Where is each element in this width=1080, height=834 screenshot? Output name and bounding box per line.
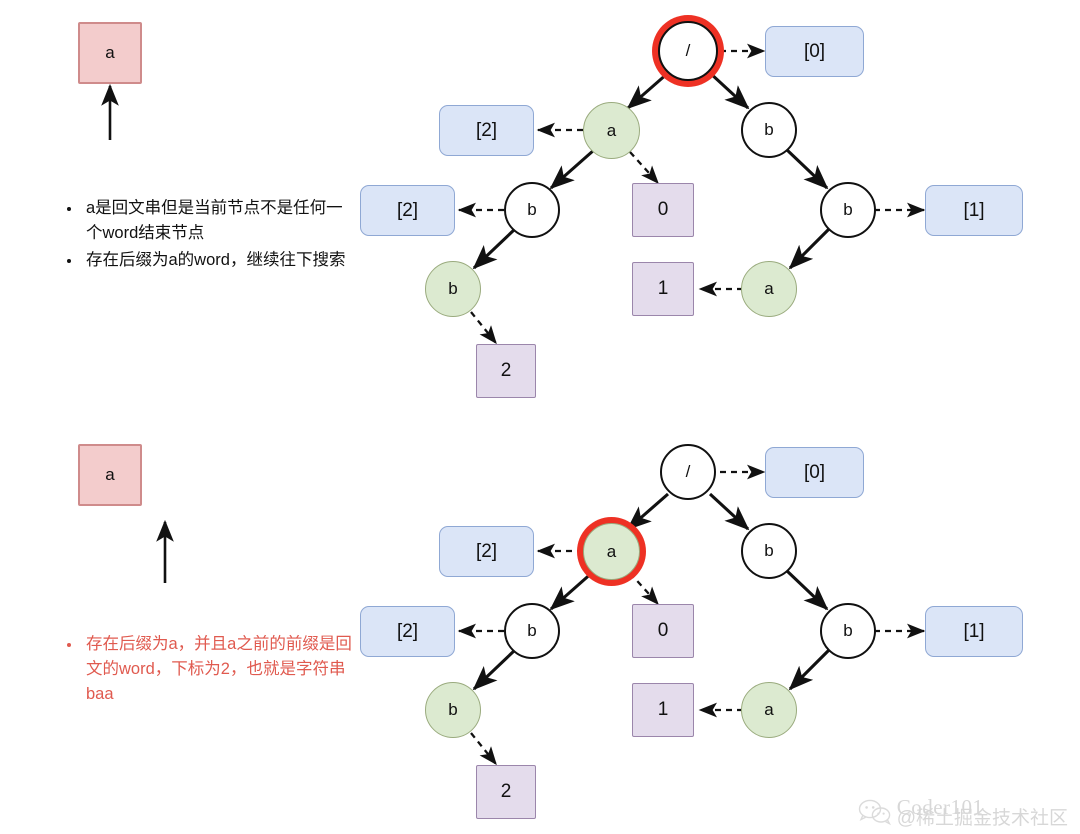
trie-node-b-left1-top[interactable]: b [504,182,560,238]
trie-node-a-right2-top[interactable]: a [741,261,797,317]
trie-node-b-left1-bottom[interactable]: b [504,603,560,659]
index-box-a1-bottom: [2] [439,526,534,577]
trie-node-b-left2-bottom[interactable]: b [425,682,481,738]
index-box-root-top: [0] [765,26,864,77]
index-box-label: [1] [963,200,984,222]
index-box-label: [2] [476,541,497,563]
node-label: a [607,542,616,562]
node-label: b [843,200,852,220]
index-box-b-right2-top: [1] [925,185,1023,236]
word-end-box-2-bottom: 2 [476,765,536,819]
list-item: 存在后缀为a，并且a之前的前缀是回文的word，下标为2，也就是字符串baa [82,632,357,707]
index-box-label: [2] [397,200,418,222]
query-box-top: a [78,22,142,84]
list-item: 存在后缀为a的word，继续往下搜索 [82,248,352,273]
index-box-label: [1] [963,621,984,643]
trie-node-b-right2-top[interactable]: b [820,182,876,238]
query-box-top-label: a [105,43,114,63]
node-label: b [764,120,773,140]
list-item: a是回文串但是当前节点不是任何一个word结束节点 [82,196,352,246]
node-label: b [527,200,536,220]
index-box-label: [0] [804,462,825,484]
wechat-icon [858,798,892,828]
node-label: b [527,621,536,641]
watermark: Coder101 @稀土掘金技术社区 [858,797,1068,828]
word-end-label: 1 [658,699,669,721]
index-box-b-left1-bottom: [2] [360,606,455,657]
index-box-b-right2-bottom: [1] [925,606,1023,657]
trie-node-a1-bottom[interactable]: a [583,523,640,580]
word-end-box-0-top: 0 [632,183,694,237]
trie-node-a1-top[interactable]: a [583,102,640,159]
index-box-a1-top: [2] [439,105,534,156]
word-end-box-1-bottom: 1 [632,683,694,737]
word-end-box-2-top: 2 [476,344,536,398]
node-label: b [448,279,457,299]
word-end-label: 0 [658,199,669,221]
node-label: a [764,700,773,720]
word-end-label: 0 [658,620,669,642]
index-box-label: [0] [804,41,825,63]
node-label: a [607,121,616,141]
explanation-list-bottom: 存在后缀为a，并且a之前的前缀是回文的word，下标为2，也就是字符串baa [60,632,357,709]
trie-node-a-right2-bottom[interactable]: a [741,682,797,738]
index-box-root-bottom: [0] [765,447,864,498]
index-box-label: [2] [397,621,418,643]
word-end-label: 1 [658,278,669,300]
node-label: b [843,621,852,641]
trie-node-root-bottom[interactable]: / [660,444,716,500]
trie-node-b-right2-bottom[interactable]: b [820,603,876,659]
watermark-subtitle: @稀土掘金技术社区 [897,809,1068,828]
trie-node-b-right1-bottom[interactable]: b [741,523,797,579]
trie-node-root-top[interactable]: / [658,21,718,81]
query-box-bottom-label: a [105,465,114,485]
word-end-label: 2 [501,360,512,382]
node-label: / [686,41,691,61]
word-end-box-1-top: 1 [632,262,694,316]
diagram-canvas: a a是回文串但是当前节点不是任何一个word结束节点 存在后缀为a的word，… [0,0,1080,834]
node-label: b [764,541,773,561]
trie-node-b-right1-top[interactable]: b [741,102,797,158]
node-label: b [448,700,457,720]
query-box-bottom: a [78,444,142,506]
node-label: a [764,279,773,299]
index-box-b-left1-top: [2] [360,185,455,236]
node-label: / [686,462,691,482]
trie-node-b-left2-top[interactable]: b [425,261,481,317]
word-end-label: 2 [501,781,512,803]
explanation-list-top: a是回文串但是当前节点不是任何一个word结束节点 存在后缀为a的word，继续… [60,196,352,275]
word-end-box-0-bottom: 0 [632,604,694,658]
index-box-label: [2] [476,120,497,142]
